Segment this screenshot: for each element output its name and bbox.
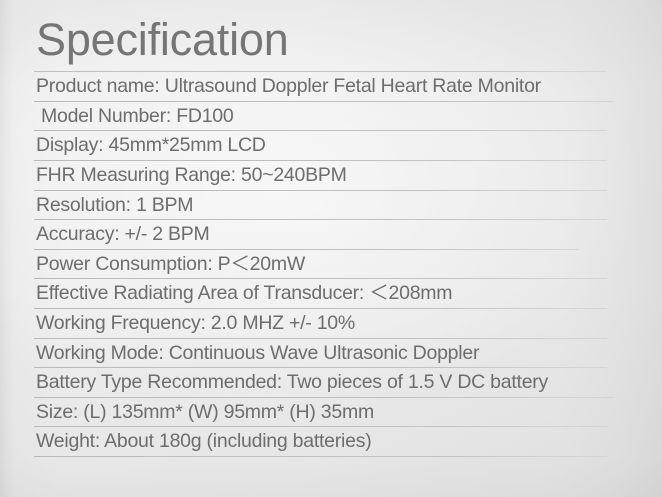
specification-sheet: Specification Product name: Ultrasound D… bbox=[0, 0, 662, 497]
spec-row-text: Size: (L) 135mm* (W) 95mm* (H) 35mm bbox=[36, 403, 374, 423]
spec-row-text: Accuracy: +/- 2 BPM bbox=[36, 225, 210, 245]
spec-row-power-consumption: Power Consumption: P＜20mW bbox=[0, 250, 662, 280]
spec-row-size: Size: (L) 135mm* (W) 95mm* (H) 35mm bbox=[0, 398, 662, 428]
spec-row-text: Weight: About 180g (including batteries) bbox=[36, 432, 371, 452]
page-title: Specification bbox=[36, 16, 610, 63]
spec-row-text: Working Frequency: 2.0 MHZ +/- 10% bbox=[36, 314, 355, 334]
spec-row-display: Display: 45mm*25mm LCD bbox=[0, 131, 662, 161]
spec-row-weight: Weight: About 180g (including batteries) bbox=[0, 427, 662, 457]
spec-row-working-mode: Working Mode: Continuous Wave Ultrasonic… bbox=[0, 339, 662, 369]
spec-row-model-number: Model Number: FD100 bbox=[0, 102, 662, 132]
spec-row-text: Working Mode: Continuous Wave Ultrasonic… bbox=[36, 344, 479, 364]
spec-row-text: Battery Type Recommended: Two pieces of … bbox=[36, 373, 548, 393]
spec-row-product-name: Product name: Ultrasound Doppler Fetal H… bbox=[0, 72, 662, 102]
spec-row-text: Power Consumption: P＜20mW bbox=[36, 255, 305, 275]
sheet-content: Specification Product name: Ultrasound D… bbox=[0, 0, 662, 457]
spec-row-text: Effective Radiating Area of Transducer: … bbox=[36, 284, 452, 304]
spec-row-text: Product name: Ultrasound Doppler Fetal H… bbox=[36, 77, 541, 97]
spec-row-working-frequency: Working Frequency: 2.0 MHZ +/- 10% bbox=[0, 309, 662, 339]
spec-row-accuracy: Accuracy: +/- 2 BPM bbox=[0, 220, 662, 250]
spec-row-resolution: Resolution: 1 BPM bbox=[0, 191, 662, 221]
spec-row-battery-type: Battery Type Recommended: Two pieces of … bbox=[0, 368, 662, 398]
specification-list: Product name: Ultrasound Doppler Fetal H… bbox=[0, 72, 662, 457]
spec-row-radiating-area: Effective Radiating Area of Transducer: … bbox=[0, 279, 662, 309]
spec-row-text: Model Number: FD100 bbox=[41, 107, 234, 127]
spec-row-text: Resolution: 1 BPM bbox=[36, 196, 193, 216]
spec-row-text: FHR Measuring Range: 50~240BPM bbox=[36, 166, 347, 186]
title-block: Specification bbox=[0, 0, 662, 72]
spec-row-fhr-measuring-range: FHR Measuring Range: 50~240BPM bbox=[0, 161, 662, 191]
spec-row-text: Display: 45mm*25mm LCD bbox=[36, 136, 266, 156]
